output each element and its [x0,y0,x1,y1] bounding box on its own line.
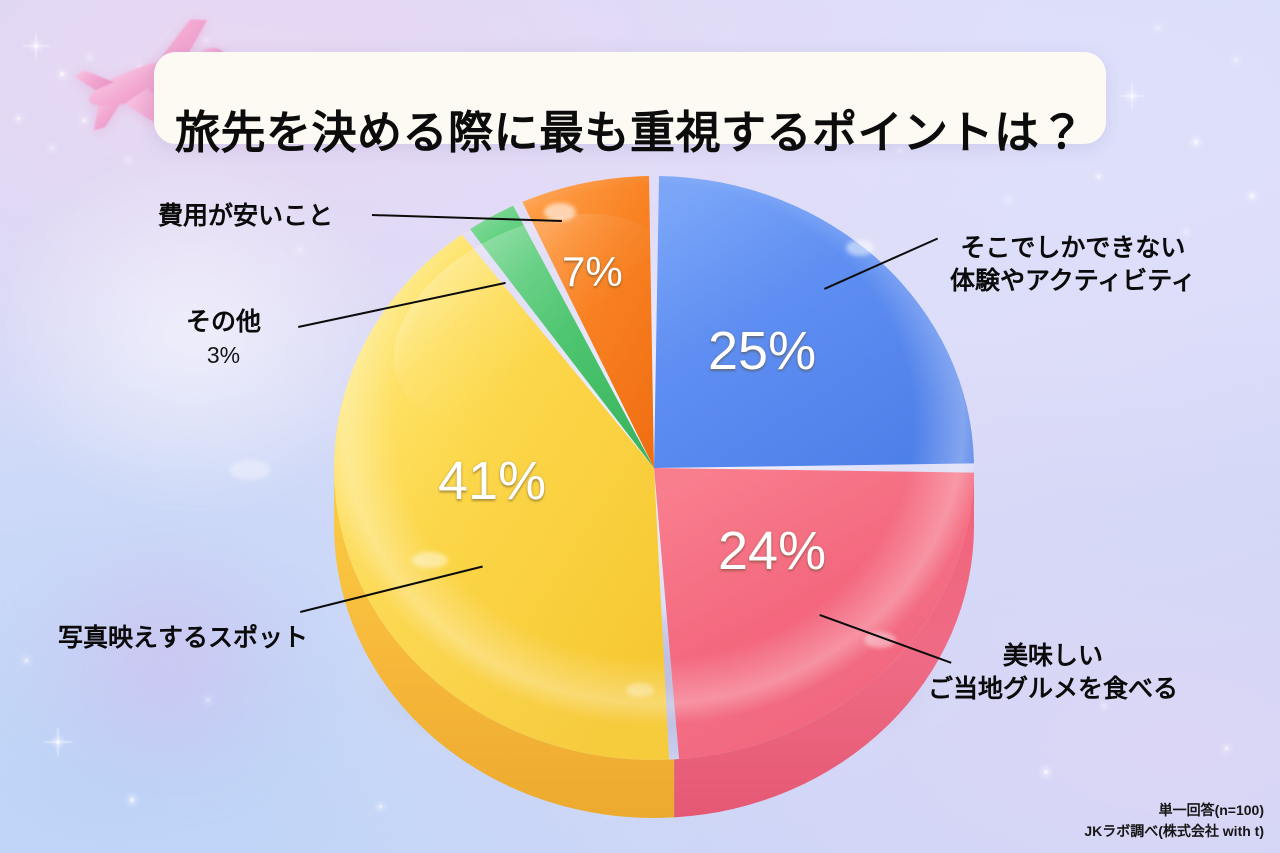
pie-chart-svg [318,168,982,778]
pie-specular-dot [626,683,654,697]
callout-photo-spot-line1: 写真映えするスポット [58,624,308,652]
pie-specular-dot [412,552,448,568]
sparkle [17,117,20,120]
footnote: 単一回答(n=100) JKラボ調べ(株式会社 with t) [1084,800,1264,841]
pie-specular-dot [864,632,896,648]
pie-specular-dot [544,203,576,221]
sparkle [130,798,133,801]
sparkle [25,659,28,662]
infographic-canvas: 旅先を決める際に最も重視するポイントは？ [0,0,1280,853]
callout-experience-line2: 体験やアクティビティ [950,267,1196,295]
callout-gourmet-line2: ご当地グルメを食べる [928,675,1178,703]
sparkle [379,805,382,808]
page-title: 旅先を決める際に最も重視するポイントは？ [154,82,1106,174]
callout-cheap-line1: 費用が安いこと [158,202,333,230]
callout-label-other: その他 3% [186,306,261,370]
sparkle [1097,175,1100,178]
pie-specular-dot [846,240,874,256]
callout-label-gourmet: 美味しい ご当地グルメを食べる [928,640,1178,705]
callout-label-photo-spot: 写真映えするスポット [58,622,308,655]
footnote-line-1: 単一回答(n=100) [1084,800,1264,820]
sparkle [1044,770,1048,774]
pie-chart [318,168,982,778]
pie-specular-dot [230,460,270,480]
callout-label-experience: そこでしかできない 体験やアクティビティ [950,232,1196,297]
footnote-line-2: JKラボ調べ(株式会社 with t) [1084,821,1264,841]
sparkle [1225,747,1228,750]
sparkle [1250,194,1253,197]
callout-label-cheap: 費用が安いこと [158,200,333,233]
callout-experience-line1: そこでしかできない [960,234,1185,262]
callout-other-line1: その他 [186,308,261,336]
callout-gourmet-line1: 美味しい [1003,642,1103,670]
callout-other-value: 3% [186,341,261,371]
sparkle [1194,140,1198,144]
